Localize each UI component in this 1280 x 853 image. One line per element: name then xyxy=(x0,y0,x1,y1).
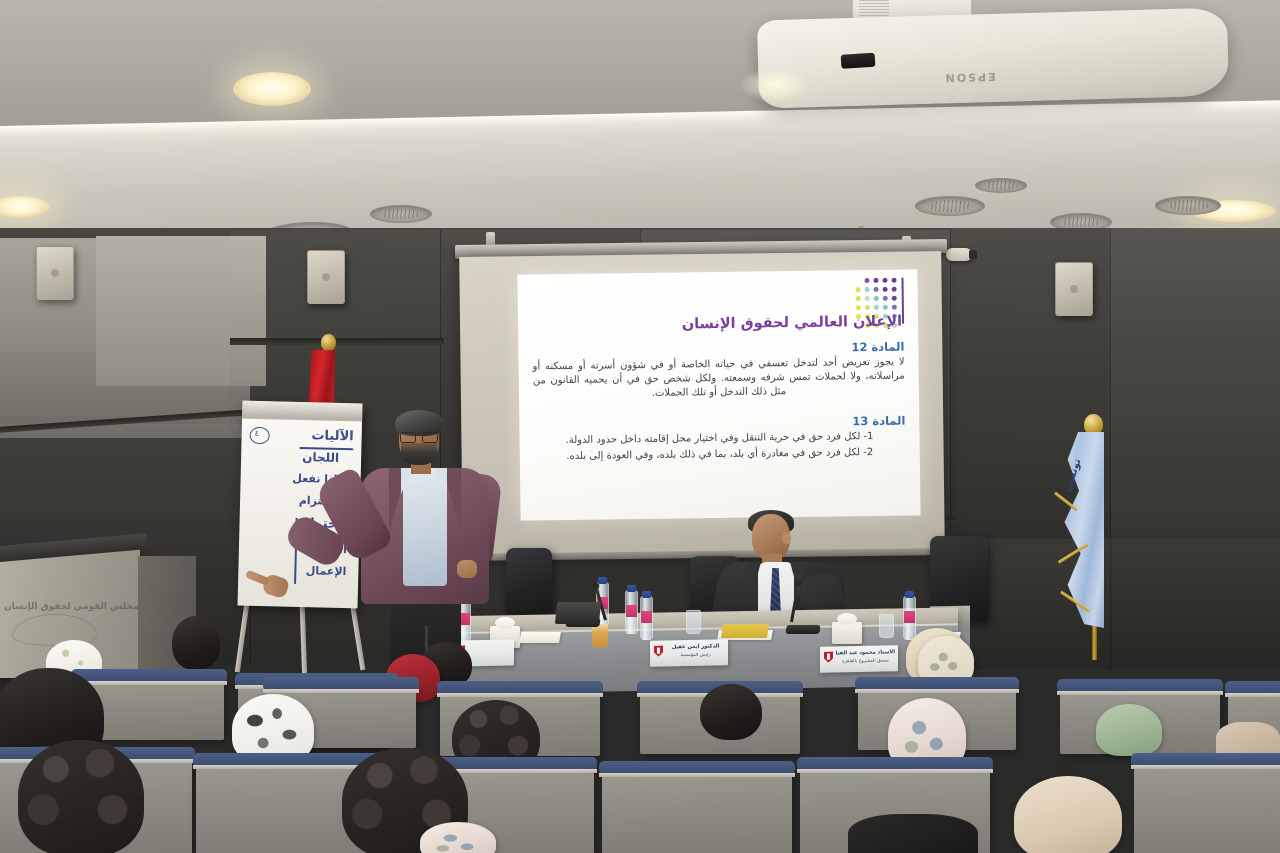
logo-dot xyxy=(892,296,897,301)
crest-icon xyxy=(824,652,833,663)
logo-dot xyxy=(856,305,861,310)
conference-hall-photo: EPSON الإعلان العالمي لحقوق الإنسان الما… xyxy=(0,0,1280,853)
microphone-base xyxy=(785,625,820,634)
water-bottle xyxy=(903,596,916,640)
crest-icon xyxy=(654,646,663,657)
tissue xyxy=(837,613,857,625)
tissue xyxy=(495,617,515,629)
bottle-cap xyxy=(642,591,651,598)
bottle-label xyxy=(904,611,915,623)
water-bottle xyxy=(625,590,638,634)
executive-chair xyxy=(506,548,552,614)
logo-dot xyxy=(855,278,860,283)
seat-trim xyxy=(599,773,795,777)
audience-head xyxy=(700,684,762,740)
air-vent xyxy=(1155,196,1221,215)
beard xyxy=(401,443,437,465)
projector-lens-icon xyxy=(841,53,876,69)
logo-dot xyxy=(874,305,879,310)
air-vent xyxy=(915,196,985,216)
placard-role: منسق المشروع بالقاهرة xyxy=(836,658,895,664)
name-placard: الأستاذ محمود عبد الفتاح منسق المشروع با… xyxy=(820,645,898,673)
collar xyxy=(435,468,447,494)
projector-brand-label: EPSON xyxy=(943,70,995,84)
air-vent xyxy=(370,205,432,223)
standing-presenter xyxy=(355,410,495,680)
logo-dot xyxy=(874,287,879,292)
bottle-cap xyxy=(598,577,607,584)
podium-emblem-text: المجلس القومي لحقوق الإنسان xyxy=(4,602,146,612)
hand-right xyxy=(457,560,477,578)
article-paragraph: لا يجوز تعريض أحد لتدخل تعسفي في حياته ا… xyxy=(533,356,906,403)
wall-panel xyxy=(1110,226,1280,539)
seat-trim xyxy=(797,769,993,773)
logo-dot xyxy=(891,278,896,283)
projector-light-glow xyxy=(740,68,810,102)
audience-headscarf xyxy=(1096,704,1162,756)
slide-title: الإعلان العالمي لحقوق الإنسان xyxy=(536,314,902,335)
seat-trim xyxy=(263,689,419,693)
wall-speaker-icon xyxy=(1055,262,1093,316)
logo-dot xyxy=(874,296,879,301)
flipchart-page-number-circle: ٤ xyxy=(249,427,269,444)
flag-finial-icon xyxy=(321,334,336,351)
podium-emblem: المجلس القومي لحقوق الإنسان xyxy=(0,588,108,644)
audience-head xyxy=(172,616,220,670)
audience-headscarf xyxy=(1014,776,1122,853)
seat-trim xyxy=(1131,765,1280,769)
logo-dot xyxy=(865,296,870,301)
drinking-glass xyxy=(686,610,701,634)
placard-name: الأستاذ محمود عبد الفتاح xyxy=(836,649,895,656)
ceiling-projector: EPSON xyxy=(757,7,1229,108)
logo-dot xyxy=(883,296,888,301)
auditorium-seat[interactable] xyxy=(1134,762,1280,853)
seat-trim xyxy=(1225,693,1280,697)
logo-dot xyxy=(883,305,888,310)
wall-speaker-icon xyxy=(36,246,74,300)
bottle-label xyxy=(641,611,652,623)
logo-dot xyxy=(865,305,870,310)
logo-dot xyxy=(873,278,878,283)
flag-finial-icon xyxy=(1084,414,1103,435)
bottle-cap xyxy=(627,585,636,592)
wall-trim xyxy=(230,338,444,345)
bottle-label xyxy=(626,605,637,617)
ear xyxy=(782,532,791,544)
logo-dot xyxy=(892,287,897,292)
audience-shoulder xyxy=(848,814,978,853)
auditorium-seat[interactable] xyxy=(602,770,792,853)
logo-dot xyxy=(892,305,897,310)
water-bottle xyxy=(640,596,653,640)
yellow-folder xyxy=(721,624,769,638)
slide-body: المادة 12 لا يجوز تعريض أحد لتدخل تعسفي … xyxy=(532,340,906,467)
recessed-downlight xyxy=(233,72,311,106)
seat-trim xyxy=(855,689,1019,693)
security-camera-icon xyxy=(946,248,972,261)
documents xyxy=(519,632,561,643)
article-list-item: 2- لكل فرد حق في مغادرة أي بلد، بما في ذ… xyxy=(534,446,906,465)
paper-cup xyxy=(592,624,608,648)
flipchart-clamp xyxy=(240,401,362,422)
logo-dot xyxy=(864,278,869,283)
logo-dot xyxy=(865,287,870,292)
audience-head xyxy=(18,740,144,853)
seat-trim xyxy=(71,681,227,685)
flipchart-page-number: ٤ xyxy=(255,429,260,438)
air-vent xyxy=(975,178,1027,193)
flipchart-line: الآليات xyxy=(311,428,354,444)
name-placard: الدكتور أيمن عقيل رئيس المؤسسة xyxy=(650,639,728,667)
logo-dot xyxy=(856,287,861,292)
seat-trim xyxy=(437,693,603,697)
bottle-cap xyxy=(905,591,914,598)
tissue-box xyxy=(832,622,862,644)
wall-speaker-icon xyxy=(307,250,345,304)
wall-panel xyxy=(1110,538,1280,669)
logo-dot xyxy=(882,278,887,283)
eyeglasses-icon xyxy=(400,432,438,441)
logo-dot xyxy=(883,287,888,292)
logo-dot xyxy=(856,296,861,301)
flipchart-line: اللجان xyxy=(302,450,339,465)
laptop xyxy=(555,602,601,624)
placard-role: رئيس المؤسسة xyxy=(666,652,725,658)
presentation-slide: الإعلان العالمي لحقوق الإنسان المادة 12 … xyxy=(517,269,920,520)
placard-name: الدكتور أيمن عقيل xyxy=(666,643,725,650)
flipchart-line: الإعمال xyxy=(306,564,347,578)
seat-trim xyxy=(1057,691,1223,695)
drinking-glass xyxy=(879,614,894,638)
